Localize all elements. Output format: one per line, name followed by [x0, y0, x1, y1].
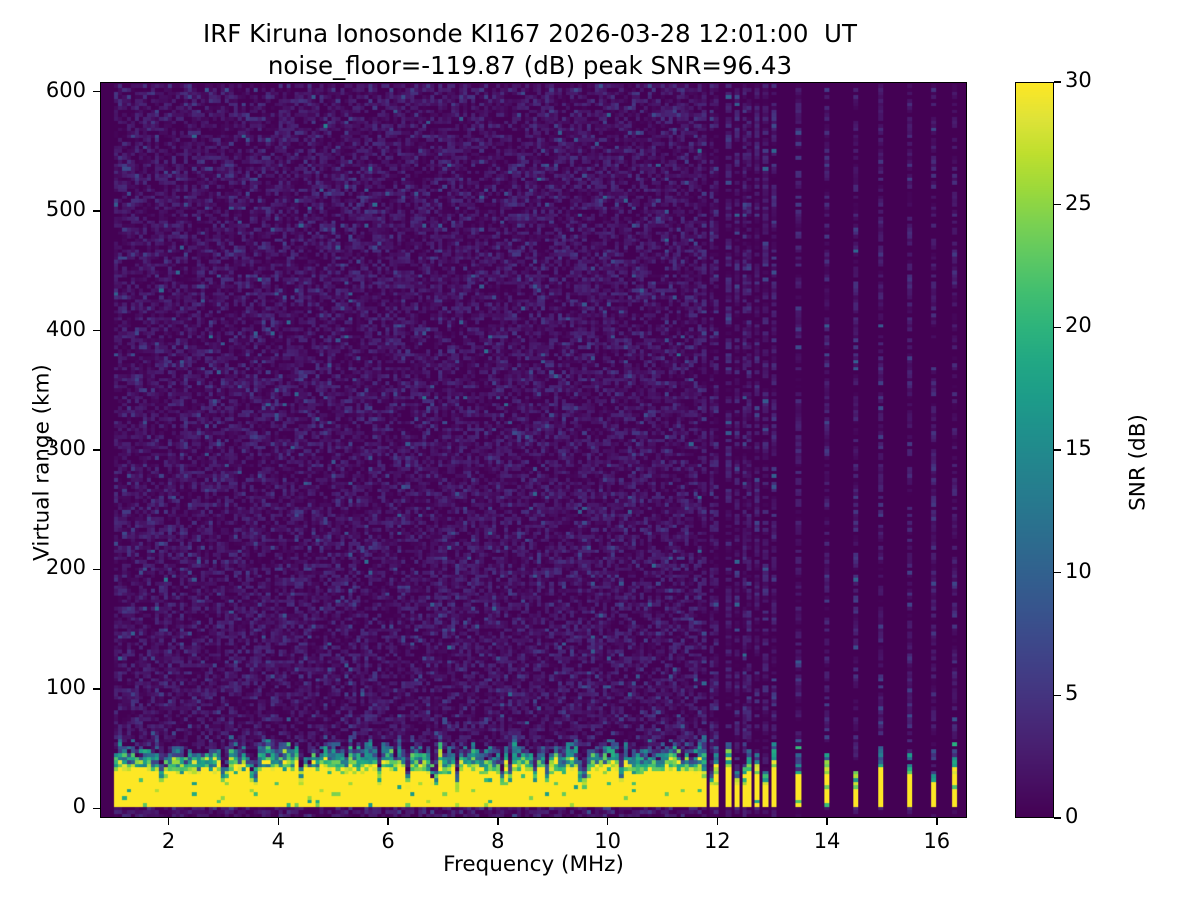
x-tick-label: 6 [348, 829, 428, 853]
x-tick-mark [278, 818, 280, 825]
x-tick-mark [717, 818, 719, 825]
y-tick-mark [93, 569, 100, 571]
colorbar-tick-label: 10 [1065, 559, 1092, 583]
colorbar-label: SNR (dB) [1126, 253, 1151, 673]
ionogram-figure: IRF Kiruna Ionosonde KI167 2026-03-28 12… [0, 0, 1200, 900]
colorbar-tick-mark [1054, 695, 1061, 697]
x-tick-label: 8 [458, 829, 538, 853]
plot-area [100, 82, 967, 818]
colorbar-tick-label: 0 [1065, 804, 1078, 828]
y-tick-mark [93, 808, 100, 810]
y-tick-mark [93, 210, 100, 212]
x-tick-label: 14 [787, 829, 867, 853]
x-tick-label: 10 [568, 829, 648, 853]
y-tick-mark [93, 449, 100, 451]
y-tick-mark [93, 688, 100, 690]
colorbar-tick-label: 20 [1065, 313, 1092, 337]
x-tick-label: 12 [677, 829, 757, 853]
colorbar [1015, 82, 1054, 818]
x-tick-mark [936, 818, 938, 825]
colorbar-tick-label: 30 [1065, 68, 1092, 92]
y-tick-mark [93, 330, 100, 332]
chart-title: IRF Kiruna Ionosonde KI167 2026-03-28 12… [0, 18, 1060, 82]
colorbar-tick-label: 15 [1065, 436, 1092, 460]
y-tick-label: 0 [0, 794, 86, 818]
colorbar-tick-mark [1054, 572, 1061, 574]
title-line-1: IRF Kiruna Ionosonde KI167 2026-03-28 12… [0, 18, 1060, 50]
colorbar-tick-mark [1054, 817, 1061, 819]
x-tick-mark [826, 818, 828, 825]
x-axis-label: Frequency (MHz) [100, 852, 967, 877]
y-tick-mark [93, 91, 100, 93]
x-tick-mark [607, 818, 609, 825]
colorbar-tick-label: 25 [1065, 191, 1092, 215]
y-tick-label: 600 [0, 78, 86, 102]
colorbar-tick-mark [1054, 327, 1061, 329]
x-tick-mark [168, 818, 170, 825]
x-tick-label: 16 [897, 829, 977, 853]
colorbar-tick-mark [1054, 81, 1061, 83]
colorbar-tick-mark [1054, 449, 1061, 451]
x-tick-mark [387, 818, 389, 825]
x-tick-label: 4 [238, 829, 318, 853]
ionogram-heatmap [101, 83, 966, 817]
x-tick-label: 2 [129, 829, 209, 853]
colorbar-gradient [1016, 83, 1053, 817]
colorbar-tick-label: 5 [1065, 681, 1078, 705]
title-line-2: noise_floor=-119.87 (dB) peak SNR=96.43 [0, 50, 1060, 82]
y-axis-label: Virtual range (km) [30, 163, 55, 763]
x-tick-mark [497, 818, 499, 825]
colorbar-tick-mark [1054, 204, 1061, 206]
